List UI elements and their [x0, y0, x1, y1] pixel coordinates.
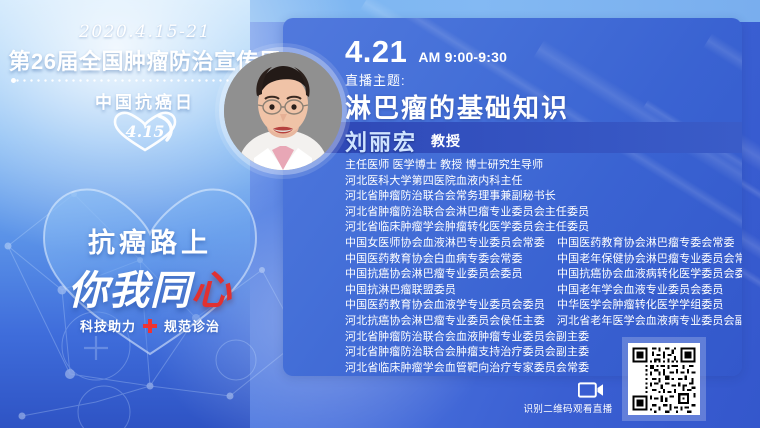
- speaker-name-band: 刘丽宏 教授: [283, 122, 742, 153]
- credential-text: 河北省肿瘤防治联合会淋巴瘤专业委员会主任委员: [345, 205, 557, 221]
- sub-slogan: 科技助力 规范诊治: [28, 316, 272, 335]
- credential-text: 河北省老年医学会血液病专业委员会副主委: [557, 314, 742, 330]
- credential-row: 中国抗癌协会淋巴瘤专业委员会委员中国抗癌协会血液病转化医学委员会委员: [345, 267, 735, 283]
- slogan-heart-block: 抗癌路上 你我同心 科技助力 规范诊治: [28, 176, 272, 366]
- credential-text: 中国老年学会血液专业委员会委员: [557, 283, 735, 299]
- credential-text: 中国抗癌协会血液病转化医学委员会委员: [557, 267, 742, 283]
- credential-text: 河北省临床肿瘤学会肿瘤转化医学委员会主任委员: [345, 220, 557, 236]
- credential-text: 河北抗癌协会淋巴瘤专业委员会侯任主委: [345, 314, 557, 330]
- topic-label: 直播主题:: [345, 70, 406, 89]
- credential-row: 河北医科大学第四医院血液内科主任: [345, 174, 735, 190]
- speaker-avatar: [224, 52, 342, 170]
- credential-text: [557, 174, 735, 190]
- lecture-header: 4.21 AM 9:00-9:30: [345, 36, 507, 67]
- lecture-topic: 淋巴瘤的基础知识: [345, 88, 569, 125]
- event-date-range: 2020.4.15-21: [0, 22, 290, 42]
- lecture-time: AM 9:00-9:30: [418, 49, 507, 65]
- qr-caption: 识别二维码观看直播: [516, 401, 620, 415]
- speaker-title: 教授: [431, 131, 461, 151]
- credential-text: [557, 189, 735, 205]
- slogan-line-2-red: 心: [191, 267, 232, 314]
- slogan-line-2-white: 你我同: [68, 267, 191, 314]
- credential-text: 中国抗癌协会淋巴瘤专业委员会委员: [345, 267, 557, 283]
- speaker-photo: [224, 52, 342, 170]
- credential-text: 河北省肿瘤防治联合会常务理事兼副秘书长: [345, 189, 557, 205]
- qr-code-image: [628, 343, 700, 415]
- credential-text: 中国女医师协会血液淋巴专业委员会常委: [345, 236, 557, 252]
- heart-ribbon-logo-icon: 4.15: [101, 110, 189, 152]
- sub-slogan-left: 科技助力: [80, 316, 136, 335]
- video-camera-icon: [578, 382, 604, 398]
- credential-text: 河北医科大学第四医院血液内科主任: [345, 174, 557, 190]
- credential-text: 河北省肿瘤防治联合会肿瘤支持治疗委员会副主委: [345, 345, 557, 361]
- credential-text: 中国抗淋巴瘤联盟委员: [345, 283, 557, 299]
- credential-text: 河北省肿瘤防治联合会血液肿瘤专业委员会副主委: [345, 330, 557, 346]
- credential-row: 河北省临床肿瘤学会肿瘤转化医学委员会主任委员: [345, 220, 735, 236]
- credential-row: 主任医师 医学博士 教授 博士研究生导师: [345, 158, 735, 174]
- slogan-line-2: 你我同心: [28, 258, 272, 316]
- credential-row: 河北省肿瘤防治联合会常务理事兼副秘书长: [345, 189, 735, 205]
- credential-text: 中国医药教育协会血液学专业委员会委员: [345, 298, 557, 314]
- credential-text: [557, 205, 735, 221]
- credential-row: 中国抗淋巴瘤联盟委员中国老年学会血液专业委员会委员: [345, 283, 735, 299]
- lecture-info-panel: 4.21 AM 9:00-9:30 直播主题: 淋巴瘤的基础知识 刘丽宏 教授 …: [283, 18, 742, 376]
- slogan-line-1: 抗癌路上: [28, 221, 272, 260]
- credential-text: 河北省临床肿瘤学会血管靶向治疗专家委员会常委: [345, 361, 557, 376]
- poster-canvas: 2020.4.15-21 第26届全国肿瘤防治宣传周 中国抗癌日 4.15 抗癌…: [0, 0, 760, 428]
- qr-code[interactable]: [628, 343, 700, 415]
- credential-row: 河北省肿瘤防治联合会淋巴瘤专业委员会主任委员: [345, 205, 735, 221]
- credential-text: 主任医师 医学博士 教授 博士研究生导师: [345, 158, 557, 174]
- credential-row: 中国女医师协会血液淋巴专业委员会常委中国医药教育协会淋巴瘤专委会常委: [345, 236, 735, 252]
- credential-text: 中华医学会肿瘤转化医学学组委员: [557, 298, 735, 314]
- logo-date-text: 4.15: [126, 122, 165, 141]
- credential-row: 中国医药教育协会血液学专业委员会委员中华医学会肿瘤转化医学学组委员: [345, 298, 735, 314]
- credential-text: 中国医药教育协会白血病专委会常委: [345, 252, 557, 268]
- lecture-date: 4.21: [345, 36, 407, 67]
- credential-text: 中国老年保健协会淋巴瘤专业委员会常委: [557, 252, 742, 268]
- credential-text: 中国医药教育协会淋巴瘤专委会常委: [557, 236, 735, 252]
- credential-row: 中国医药教育协会白血病专委会常委中国老年保健协会淋巴瘤专业委员会常委: [345, 252, 735, 268]
- speaker-name: 刘丽宏: [345, 125, 417, 157]
- medical-cross-icon: [143, 319, 157, 333]
- credential-text: [557, 220, 735, 236]
- credential-text: [557, 158, 735, 174]
- sub-slogan-right: 规范诊治: [164, 316, 220, 335]
- credential-row: 河北抗癌协会淋巴瘤专业委员会侯任主委河北省老年医学会血液病专业委员会副主委: [345, 314, 735, 330]
